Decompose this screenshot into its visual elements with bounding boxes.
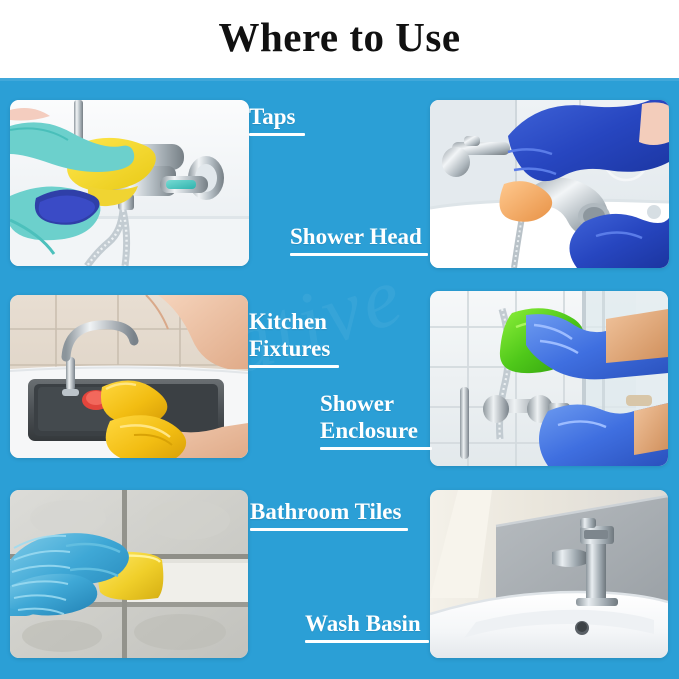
label-wash-basin-line-1: Wash Basin [305,610,429,637]
label-wash-basin: Wash Basin [305,610,429,643]
photo-taps[interactable] [10,100,249,266]
label-shower-enclosure-line-1: Shower [320,390,432,417]
label-bathroom-tiles-underline [250,528,408,531]
label-shower-enclosure: Shower Enclosure [320,390,432,450]
label-taps-underline [249,133,305,136]
shower-head-cleaning-photo [430,100,669,268]
label-kitchen-fixtures: Kitchen Fixtures [249,308,339,368]
label-shower-enclosure-line-2: Enclosure [320,417,432,444]
photo-kitchen-fixtures[interactable] [10,295,248,458]
label-taps: Taps [249,103,305,136]
poster-root: Where to Use Creative [0,0,679,679]
bathroom-tiles-cleaning-photo [10,490,248,658]
label-kitchen-fixtures-underline [249,365,339,368]
label-shower-head-underline [290,253,428,256]
label-bathroom-tiles: Bathroom Tiles [250,498,408,531]
tap-cleaning-photo [10,100,249,266]
poster-header: Where to Use [0,0,679,78]
wash-basin-photo [430,490,668,658]
shower-enclosure-cleaning-photo [430,291,668,466]
label-taps-line-1: Taps [249,103,305,130]
kitchen-sink-cleaning-photo [10,295,248,458]
label-bathroom-tiles-line-1: Bathroom Tiles [250,498,408,525]
label-kitchen-fixtures-line-1: Kitchen [249,308,339,335]
label-kitchen-fixtures-line-2: Fixtures [249,335,339,362]
content-board: Creative [0,78,679,679]
photo-shower-head[interactable] [430,100,669,268]
photo-shower-enclosure[interactable] [430,291,668,466]
photo-bathroom-tiles[interactable] [10,490,248,658]
label-wash-basin-underline [305,640,429,643]
label-shower-head-line-1: Shower Head [290,223,428,250]
page-title: Where to Use [218,17,460,62]
photo-wash-basin[interactable] [430,490,668,658]
label-shower-head: Shower Head [290,223,428,256]
label-shower-enclosure-underline [320,447,432,450]
